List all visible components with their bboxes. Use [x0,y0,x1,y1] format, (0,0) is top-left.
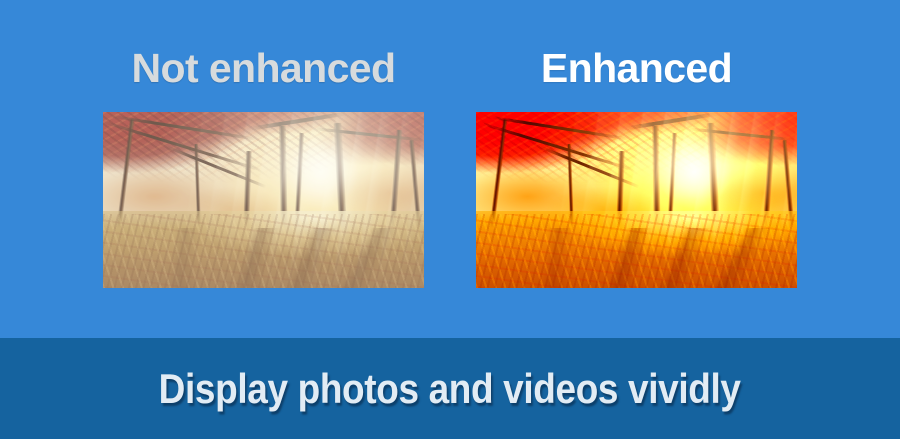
photo-grade-overlay-dim [103,112,424,288]
photo-not-enhanced [103,112,424,288]
slide-root: Not enhanced [0,0,900,439]
comparison-area: Not enhanced [0,0,900,338]
photo-enhanced [476,112,797,288]
panel-label-enhanced: Enhanced [436,44,837,92]
panel-label-not-enhanced: Not enhanced [63,44,464,92]
comparison-panel-enhanced: Enhanced [476,0,797,338]
photo-grade-overlay-vivid [476,112,797,288]
headline-text: Display photos and videos vividly [159,368,741,410]
comparison-panel-not-enhanced: Not enhanced [103,0,424,338]
headline-banner: Display photos and videos vividly [0,338,900,439]
